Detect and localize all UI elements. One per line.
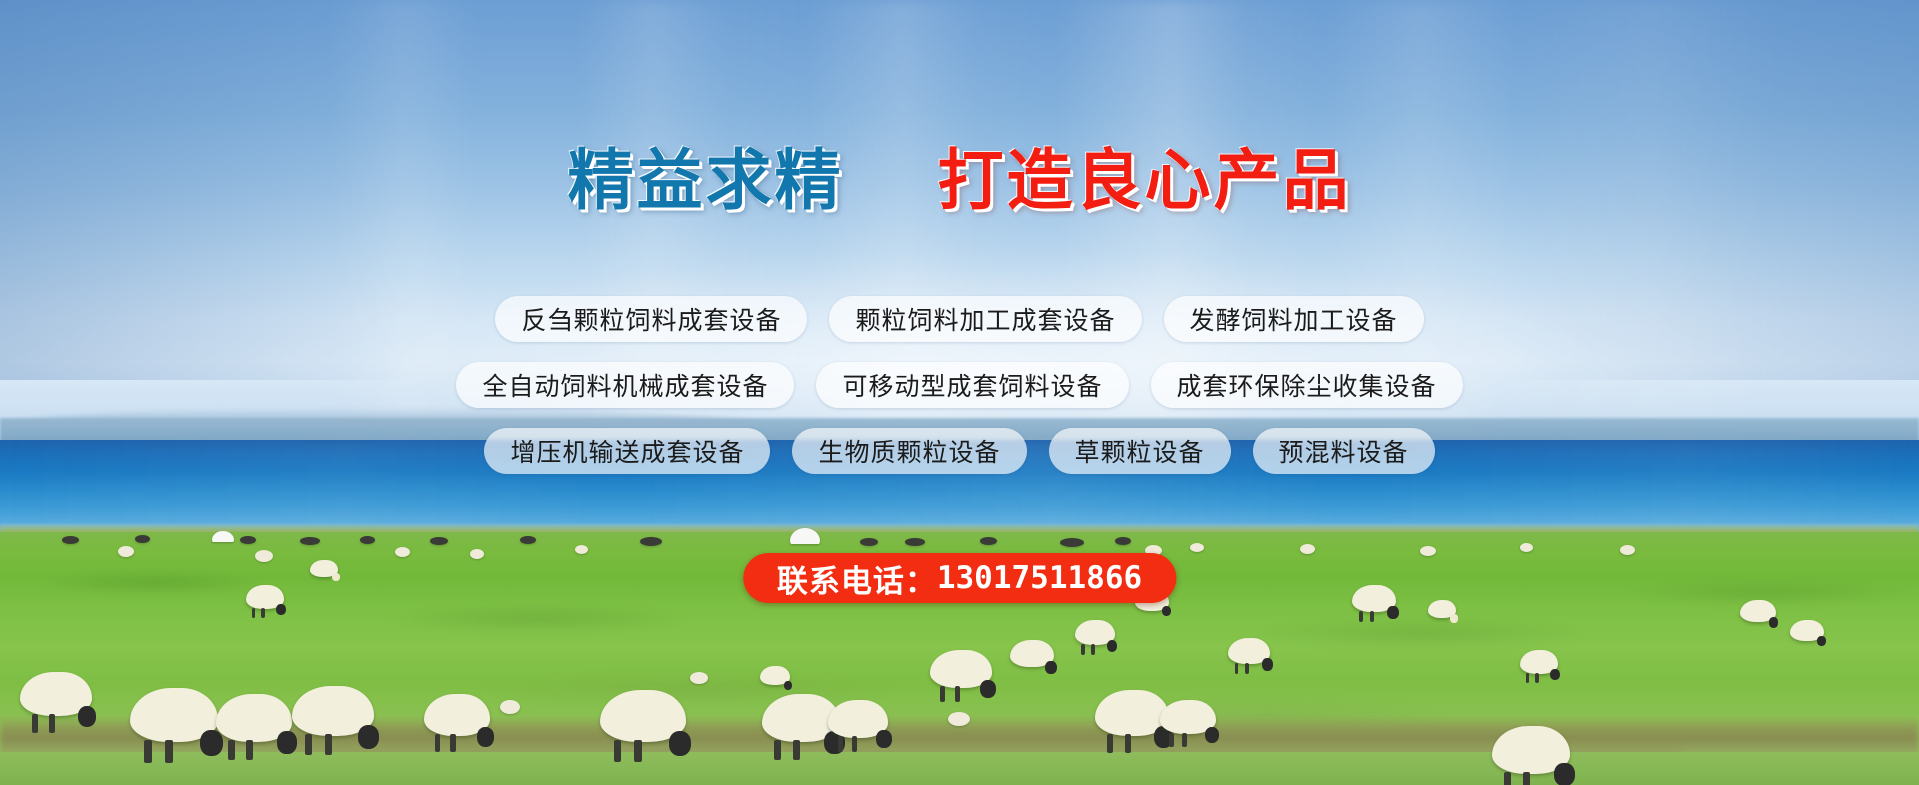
headline-red-text: 打造良心产品 <box>937 142 1351 219</box>
distant-animal <box>905 538 925 546</box>
distant-sheep <box>470 549 484 559</box>
distant-animal <box>860 538 878 546</box>
sheep <box>1492 726 1570 774</box>
sheep <box>292 686 374 736</box>
distant-sheep <box>1190 543 1204 552</box>
distant-animal <box>520 536 536 544</box>
sheep <box>1075 620 1115 645</box>
sheep <box>760 666 790 685</box>
product-pill[interactable]: 颗粒饲料加工成套设备 <box>829 296 1141 342</box>
sheep <box>1520 650 1558 674</box>
product-pill[interactable]: 可移动型成套饲料设备 <box>816 362 1128 408</box>
product-category-row: 全自动饲料机械成套设备 可移动型成套饲料设备 成套环保除尘收集设备 <box>0 362 1919 408</box>
sheep <box>1160 700 1216 734</box>
sheep <box>500 700 520 714</box>
sheep <box>1790 620 1824 641</box>
distant-animal <box>640 537 662 546</box>
distant-sheep <box>255 550 273 562</box>
product-pill[interactable]: 反刍颗粒饲料成套设备 <box>495 296 807 342</box>
headline-blue-text: 精益求精 <box>568 142 844 219</box>
contact-phone-banner[interactable]: 联系电话： 13017511866 <box>743 553 1176 603</box>
distant-animal <box>430 537 448 545</box>
distant-sheep <box>575 545 588 554</box>
distant-animal <box>300 537 320 545</box>
headline: 精益求精 打造良心产品 <box>0 148 1919 214</box>
sheep <box>1740 600 1776 622</box>
sheep <box>690 672 708 684</box>
promo-banner: 精益求精 打造良心产品 反刍颗粒饲料成套设备 颗粒饲料加工成套设备 发酵饲料加工… <box>0 0 1919 785</box>
sheep <box>20 672 92 716</box>
sheep <box>1095 690 1169 736</box>
grass-foreground <box>0 752 1919 785</box>
sheep <box>216 694 292 742</box>
sheep <box>1228 638 1270 664</box>
distant-animal <box>1115 537 1131 545</box>
distant-sheep <box>118 546 134 557</box>
product-category-row: 增压机输送成套设备 生物质颗粒设备 草颗粒设备 预混料设备 <box>0 428 1919 474</box>
product-category-row: 反刍颗粒饲料成套设备 颗粒饲料加工成套设备 发酵饲料加工设备 <box>0 296 1919 342</box>
distant-animal <box>980 537 997 545</box>
distant-sheep <box>1300 544 1315 554</box>
sheep <box>310 560 338 577</box>
sheep <box>948 712 970 726</box>
product-pill[interactable]: 增压机输送成套设备 <box>484 428 770 474</box>
product-pill[interactable]: 发酵饲料加工设备 <box>1164 296 1424 342</box>
contact-phone-number: 13017511866 <box>937 560 1142 596</box>
product-pill[interactable]: 生物质颗粒设备 <box>792 428 1026 474</box>
sheep <box>600 690 686 742</box>
sheep <box>1352 585 1396 612</box>
contact-phone-label: 联系电话： <box>777 556 937 601</box>
product-pill[interactable]: 预混料设备 <box>1253 428 1435 474</box>
distant-animal <box>135 535 150 543</box>
sheep <box>930 650 992 688</box>
sheep <box>1428 600 1456 618</box>
distant-animal <box>1060 538 1084 547</box>
sheep <box>246 585 284 609</box>
yurt-tent <box>212 531 234 542</box>
sheep <box>424 694 490 736</box>
sheep <box>130 688 218 742</box>
product-pill[interactable]: 全自动饲料机械成套设备 <box>456 362 794 408</box>
distant-sheep <box>1620 545 1635 555</box>
distant-animal <box>240 536 256 544</box>
sheep <box>828 700 888 738</box>
product-pill[interactable]: 草颗粒设备 <box>1049 428 1231 474</box>
product-category-list: 反刍颗粒饲料成套设备 颗粒饲料加工成套设备 发酵饲料加工设备 全自动饲料机械成套… <box>0 296 1919 494</box>
product-pill[interactable]: 成套环保除尘收集设备 <box>1151 362 1463 408</box>
distant-sheep <box>1520 543 1533 552</box>
sheep <box>1010 640 1054 667</box>
distant-sheep <box>395 547 410 557</box>
distant-animal <box>62 536 79 544</box>
distant-sheep <box>1420 546 1436 556</box>
distant-animal <box>360 536 375 544</box>
